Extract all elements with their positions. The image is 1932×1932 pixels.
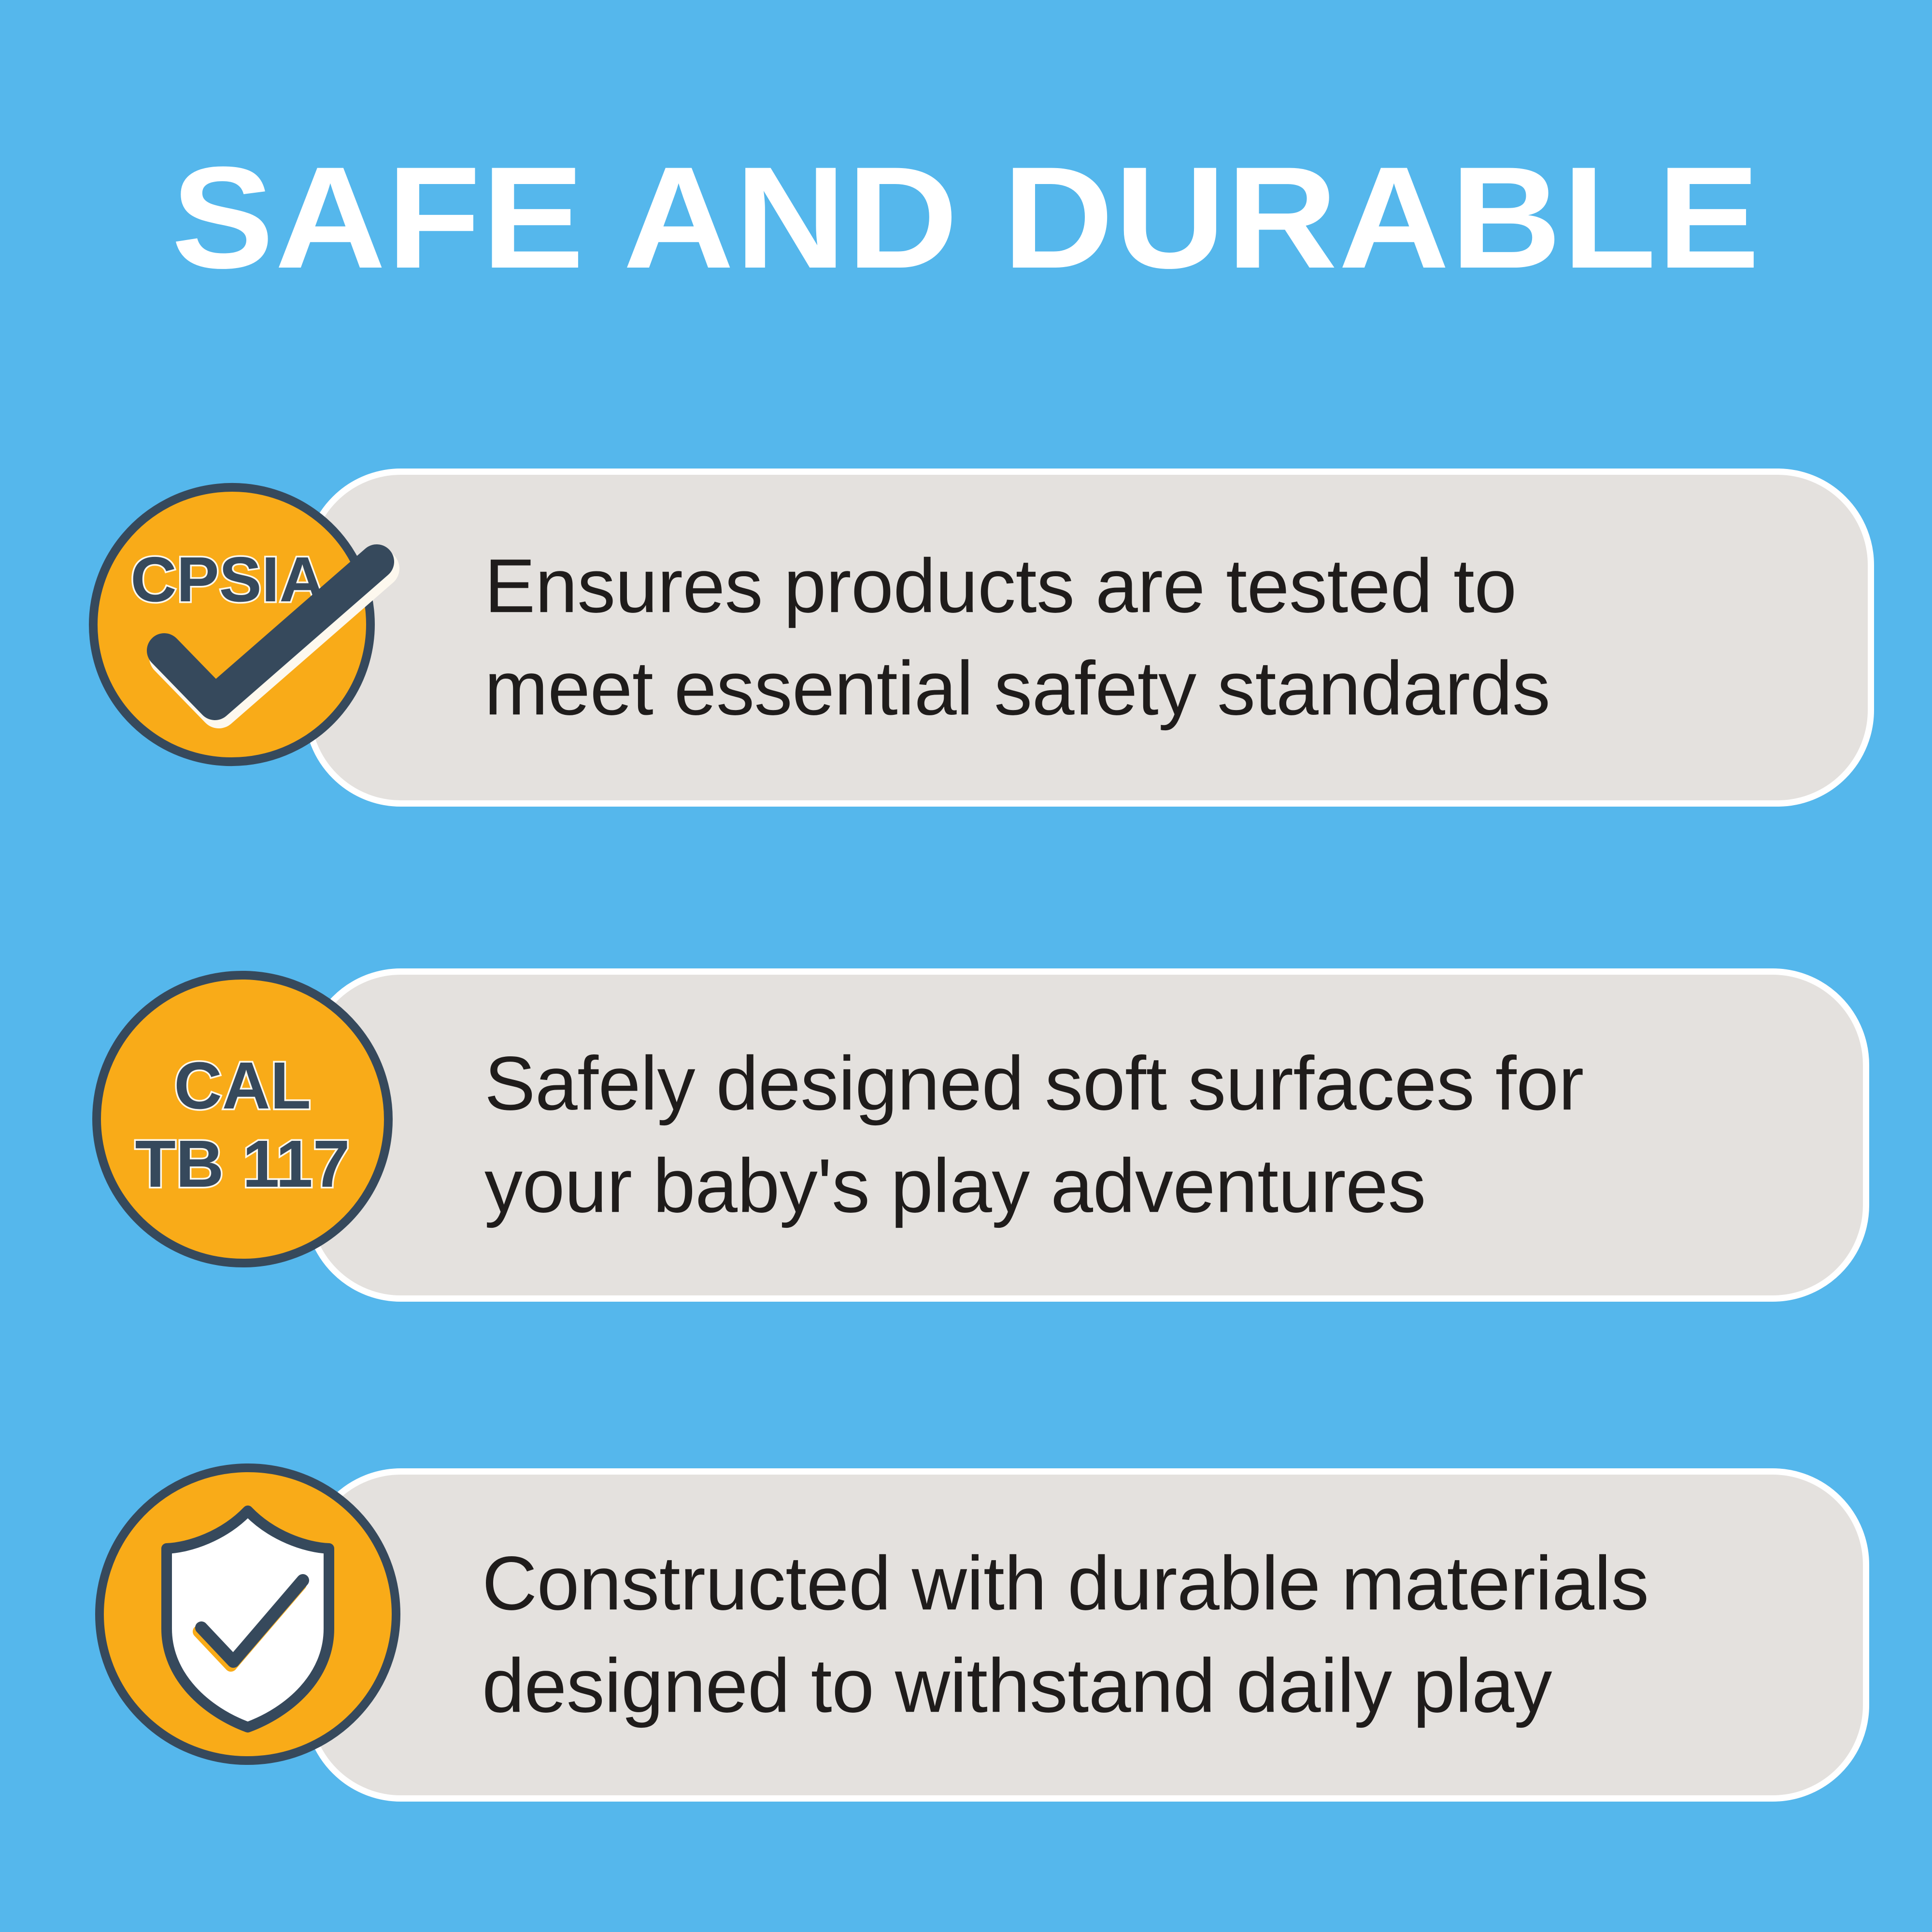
feature-card-1: Ensures products are tested to meet esse… bbox=[304, 469, 1874, 807]
cal-label: CAL bbox=[174, 1049, 311, 1123]
shield-check-badge-icon bbox=[94, 1459, 408, 1773]
feature-text-1: Ensures products are tested to meet esse… bbox=[484, 535, 1827, 739]
cpsia-label: CPSIA bbox=[130, 544, 325, 615]
feature-text-2: Safely designed soft surfaces for your b… bbox=[484, 1033, 1827, 1237]
cal-tb-117-badge-icon: CAL TB 117 bbox=[92, 968, 401, 1273]
feature-row-3: Constructed with durable materials desig… bbox=[0, 1454, 1932, 1821]
feature-text-1-line-1: Ensures products are tested to bbox=[484, 535, 1827, 638]
infographic-poster: SAFE AND DURABLE Ensures products are te… bbox=[0, 0, 1932, 1932]
page-title-container: SAFE AND DURABLE bbox=[0, 145, 1932, 290]
feature-card-3: Constructed with durable materials desig… bbox=[304, 1468, 1869, 1802]
feature-text-2-line-1: Safely designed soft surfaces for bbox=[484, 1033, 1827, 1135]
feature-text-3: Constructed with durable materials desig… bbox=[482, 1533, 1844, 1737]
tb-117-label: TB 117 bbox=[135, 1127, 350, 1201]
feature-text-1-line-2: meet essential safety standards bbox=[484, 638, 1827, 740]
feature-text-2-line-2: your baby's play adventures bbox=[484, 1135, 1827, 1237]
feature-row-2: Safely designed soft surfaces for your b… bbox=[0, 954, 1932, 1321]
feature-row-1: Ensures products are tested to meet esse… bbox=[0, 454, 1932, 821]
cpsia-check-badge-icon: CPSIA bbox=[87, 481, 415, 770]
feature-card-2: Safely designed soft surfaces for your b… bbox=[304, 968, 1869, 1302]
feature-text-3-line-2: designed to withstand daily play bbox=[482, 1635, 1844, 1737]
page-title: SAFE AND DURABLE bbox=[171, 145, 1761, 290]
feature-text-3-line-1: Constructed with durable materials bbox=[482, 1533, 1844, 1635]
